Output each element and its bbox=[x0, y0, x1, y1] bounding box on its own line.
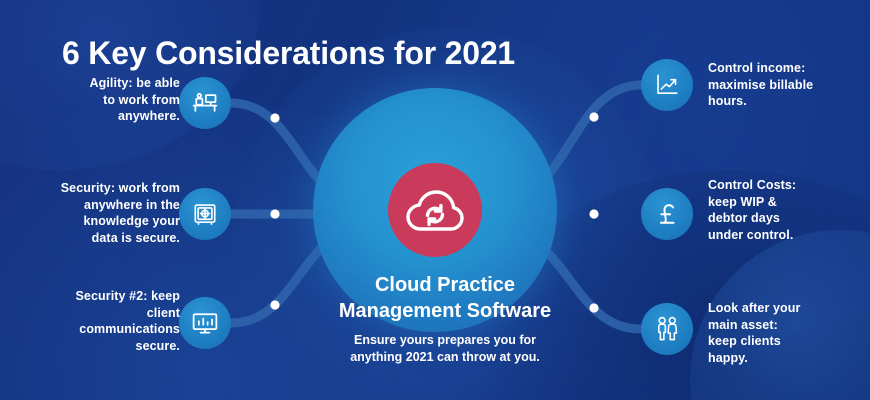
label-look-after-clients: Look after your main asset: keep clients… bbox=[708, 300, 870, 366]
label-line: secure. bbox=[20, 338, 180, 355]
node-control-costs[interactable] bbox=[641, 188, 693, 240]
safe-vault-icon bbox=[192, 201, 218, 227]
hub-core bbox=[388, 163, 482, 257]
node-security-2[interactable] bbox=[179, 297, 231, 349]
label-security: Security: work from anywhere in the know… bbox=[20, 180, 180, 246]
node-agility[interactable] bbox=[179, 77, 231, 129]
page-title: 6 Key Considerations for 2021 bbox=[62, 35, 515, 72]
desk-workstation-icon bbox=[191, 89, 219, 117]
label-control-costs: Control Costs: keep WIP & debtor days un… bbox=[708, 177, 870, 243]
label-line: Look after your bbox=[708, 300, 870, 317]
connector-dot-left-middle bbox=[270, 209, 279, 218]
growth-line-chart-icon bbox=[654, 72, 680, 98]
label-line: keep WIP & bbox=[708, 194, 870, 211]
label-line: Control income: bbox=[708, 60, 870, 77]
connector-dot-right-middle bbox=[589, 209, 598, 218]
label-line: data is secure. bbox=[20, 230, 180, 247]
pound-sterling-icon bbox=[653, 200, 681, 228]
hub-caption: Cloud Practice Management Software Ensur… bbox=[285, 272, 605, 366]
label-line: keep clients bbox=[708, 333, 870, 350]
node-security[interactable] bbox=[179, 188, 231, 240]
label-line: client bbox=[20, 305, 180, 322]
label-line: happy. bbox=[708, 350, 870, 367]
label-line: debtor days bbox=[708, 210, 870, 227]
label-line: knowledge your bbox=[20, 213, 180, 230]
two-people-icon bbox=[654, 315, 680, 343]
label-line: Agility: be able bbox=[20, 75, 180, 92]
connector-dot-right-top bbox=[589, 112, 598, 121]
label-line: Security #2: keep bbox=[20, 288, 180, 305]
label-line: maximise billable bbox=[708, 77, 870, 94]
label-line: to work from bbox=[20, 92, 180, 109]
node-look-after-clients[interactable] bbox=[641, 303, 693, 355]
label-line: communications bbox=[20, 321, 180, 338]
connector-dot-left-top bbox=[270, 113, 279, 122]
label-line: main asset: bbox=[708, 317, 870, 334]
label-agility: Agility: be able to work from anywhere. bbox=[20, 75, 180, 125]
hub-title-line1: Cloud Practice bbox=[285, 272, 605, 298]
monitor-bar-chart-icon bbox=[191, 309, 219, 337]
label-security-2: Security #2: keep client communications … bbox=[20, 288, 180, 354]
node-control-income[interactable] bbox=[641, 59, 693, 111]
cloud-sync-icon bbox=[404, 186, 466, 234]
label-line: anywhere in the bbox=[20, 197, 180, 214]
label-line: Security: work from bbox=[20, 180, 180, 197]
hub-subtitle-line1: Ensure yours prepares you for bbox=[285, 332, 605, 349]
connector-dot-left-bottom bbox=[270, 300, 279, 309]
label-control-income: Control income: maximise billable hours. bbox=[708, 60, 870, 110]
hub-title-line2: Management Software bbox=[285, 298, 605, 324]
infographic-canvas: 6 Key Considerations for 2021 Cloud Prac… bbox=[0, 0, 870, 400]
label-line: anywhere. bbox=[20, 108, 180, 125]
hub-subtitle-line2: anything 2021 can throw at you. bbox=[285, 349, 605, 366]
label-line: Control Costs: bbox=[708, 177, 870, 194]
label-line: hours. bbox=[708, 93, 870, 110]
label-line: under control. bbox=[708, 227, 870, 244]
